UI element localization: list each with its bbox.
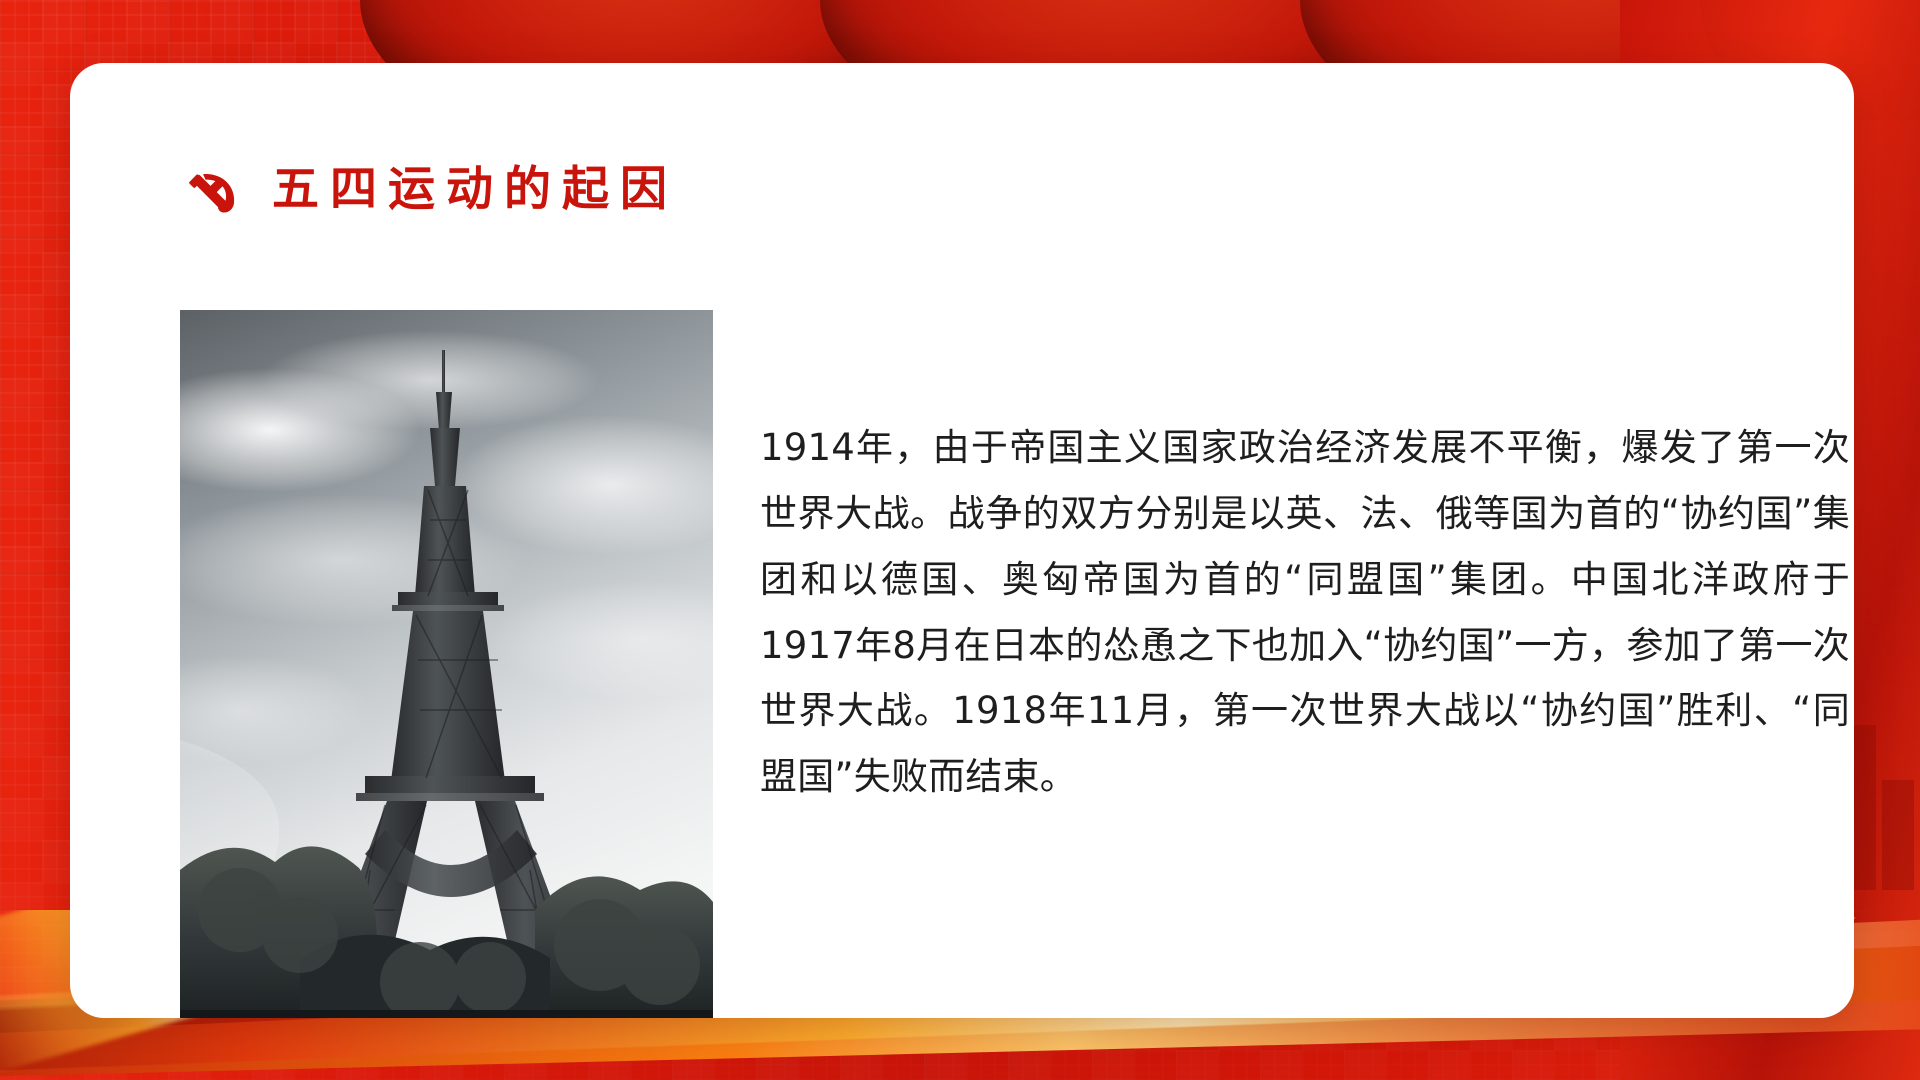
slide-title-row: 五四运动的起因	[180, 158, 678, 220]
eiffel-tower-photo	[180, 310, 713, 1018]
hammer-and-sickle-icon	[180, 158, 246, 220]
page-title: 五四运动的起因	[272, 166, 678, 213]
body-paragraph: 1914年，由于帝国主义国家政治经济发展不平衡，爆发了第一次世界大战。战争的双方…	[760, 415, 1850, 810]
content-card: 五四运动的起因	[70, 63, 1854, 1018]
